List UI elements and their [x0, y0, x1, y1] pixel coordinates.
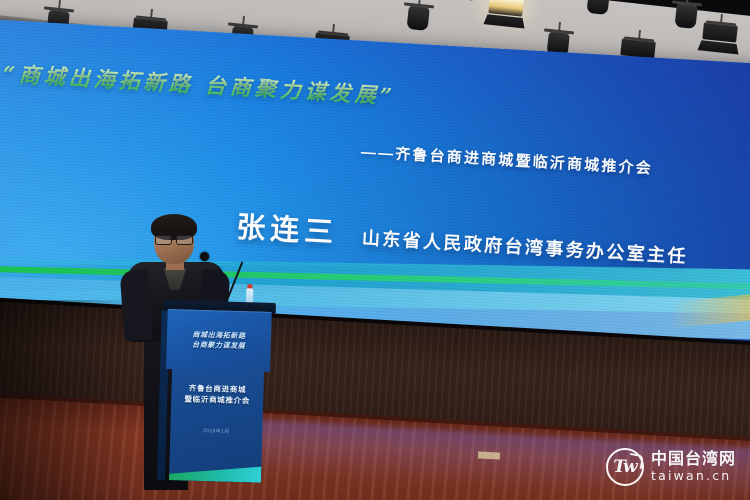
floor-marker-tape [478, 451, 500, 459]
watermark-text: 中国台湾网 taiwan.cn [651, 452, 736, 482]
speaker-arm-left [120, 269, 153, 341]
podium-slogan: 商城出海拓新路 台商聚力谋发展 [167, 329, 272, 352]
podium-front-panel: 商城出海拓新路 台商聚力谋发展 [166, 309, 272, 372]
podium-event-text: 齐鲁台商进商城 暨临沂商城推介会 [171, 382, 264, 407]
glasses-icon [155, 235, 193, 243]
logo-mark-text: Tw [613, 459, 636, 476]
watermark-site-name-cn: 中国台湾网 [651, 452, 736, 469]
screenshot-root: “商城出海拓新路 台商聚力谋发展” ——齐鲁台商进商城暨临沂商城推介会 张连三 … [0, 0, 750, 500]
microphone-head-icon [200, 252, 209, 261]
taiwan-cn-logo-icon: Tw [606, 448, 644, 486]
left-shadow-gradient [0, 300, 140, 500]
podium-lower-panel: 齐鲁台商进商城 暨临沂商城推介会 2026年1月 [169, 368, 264, 483]
podium-slogan-line2: 台商聚力谋发展 [167, 339, 271, 352]
podium-event-line2: 暨临沂商城推介会 [171, 393, 263, 407]
podium-date: 2026年1月 [170, 426, 262, 436]
podium: 商城出海拓新路 台商聚力谋发展 齐鲁台商进商城 暨临沂商城推介会 2026年1月 [163, 300, 272, 481]
watermark: Tw 中国台湾网 taiwan.cn [606, 448, 736, 486]
watermark-site-name-en: taiwan.cn [651, 469, 736, 482]
